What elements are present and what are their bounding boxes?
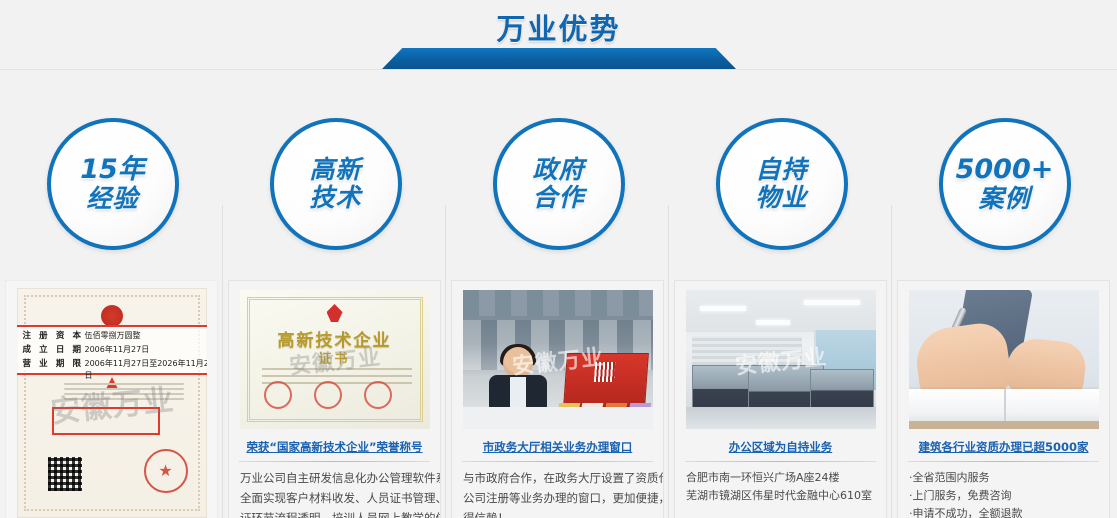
advantage-card-government: 安徽万业 市政务大厅相关业务办理窗口 与市政府合作，在政务大厅设置了资质代办。 … — [451, 280, 664, 518]
certificate-stamps — [264, 381, 392, 409]
card-caption[interactable]: 建筑各行业资质办理已超5000家 — [906, 439, 1101, 455]
license-value: 2006年11月27日 — [85, 344, 150, 357]
card-caption[interactable]: 荣获“国家高新技术企业”荣誉称号 — [237, 439, 432, 455]
body-line: 芜湖市镜湖区伟星时代金融中心610室 — [686, 487, 875, 505]
advantages-section: 万业优势 15年 经验 注 册 资 本 伍佰零捌万圆整 — [0, 0, 1117, 518]
column-divider — [891, 205, 892, 518]
body-line: 合肥市南一环恒兴广场A座24楼 — [686, 469, 875, 487]
card-body: ·全省范围内服务 ·上门服务，免费咨询 ·申请不成功，全额退款 — [909, 469, 1098, 518]
badge-line-2: 物业 — [755, 184, 807, 212]
body-line: 全面实现客户材料收发、人员证书管理、办 — [240, 489, 429, 509]
license-graphic: 注 册 资 本 伍佰零捌万圆整 成 立 日 期 2006年11月27日 营 业 … — [17, 288, 207, 518]
license-value: 伍佰零捌万圆整 — [85, 330, 141, 343]
badge-line-2: 技术 — [309, 184, 361, 212]
license-row: 成 立 日 期 2006年11月27日 — [23, 344, 207, 358]
badge-line-2: 案例 — [978, 185, 1030, 213]
advantage-card-cases: 建筑各行业资质办理已超5000家 ·全省范围内服务 ·上门服务，免费咨询 ·申请… — [897, 280, 1110, 518]
card-caption[interactable]: 办公区域为自持业务 — [683, 439, 878, 455]
license-highlight-box: 注 册 资 本 伍佰零捌万圆整 成 立 日 期 2006年11月27日 营 业 … — [17, 325, 207, 375]
office-area-photo: 安徽万业 — [686, 290, 876, 429]
body-line: ·全省范围内服务 — [909, 469, 1098, 487]
body-line: ·申请不成功，全额退款 — [909, 505, 1098, 518]
caption-underline — [239, 461, 430, 462]
license-key: 营 业 期 限 — [23, 358, 85, 372]
government-service-hall-photo: 安徽万业 — [463, 290, 653, 429]
hands-graphic — [909, 290, 1099, 429]
advantage-card-property: 安徽万业 办公区域为自持业务 合肥市南一环恒兴广场A座24楼 芜湖市镜湖区伟星时… — [674, 280, 887, 518]
section-header: 万业优势 — [0, 0, 1117, 76]
badge-line-2: 经验 — [86, 185, 138, 213]
badge-line-1: 5000+ — [956, 155, 1054, 185]
license-key: 成 立 日 期 — [23, 344, 85, 358]
badge-line-2: 合作 — [532, 184, 584, 212]
advantage-columns: 15年 经验 注 册 资 本 伍佰零捌万圆整 成 立 日 期 — [0, 76, 1117, 518]
body-line: 证环节流程透明、培训人员网上教学的信息 — [240, 509, 429, 518]
column-divider — [445, 205, 446, 518]
office-graphic: 安徽万业 — [686, 290, 876, 429]
badge-line-1: 15年 — [80, 155, 145, 185]
body-line: 得信赖！ — [463, 509, 652, 518]
column-divider — [222, 205, 223, 518]
header-banner-shape — [381, 48, 737, 70]
card-body: 万业公司自主研发信息化办公管理软件系统 全面实现客户材料收发、人员证书管理、办 … — [240, 469, 429, 518]
badge-circle-experience[interactable]: 15年 经验 — [47, 118, 179, 250]
body-line: 公司注册等业务办理的窗口，更加便捷，值 — [463, 489, 652, 509]
caption-underline — [462, 461, 653, 462]
official-seal-icon: ★ — [144, 449, 188, 493]
license-key: 注 册 资 本 — [23, 330, 85, 344]
advantage-column-cases: 5000+ 案例 建筑各行业资质办理已超5000家 — [897, 76, 1112, 518]
body-line: ·上门服务，免费咨询 — [909, 487, 1098, 505]
advantage-column-government: 政府 合作 — [451, 76, 666, 518]
advantage-card-hightech: 高新技术企业 证书 安徽万业 荣获“国家高新技术企业”荣誉称号 万业公司自主研发… — [228, 280, 441, 518]
advantage-column-hightech: 高新 技术 高新技术企业 证书 安徽万业 荣获“国家高新技术企业”荣誉称号 — [228, 76, 443, 518]
hall-graphic: 安徽万业 — [463, 290, 653, 429]
page-title: 万业优势 — [0, 6, 1117, 48]
qr-code-icon — [48, 457, 82, 491]
header-divider — [0, 69, 1117, 70]
advantage-column-experience: 15年 经验 注 册 资 本 伍佰零捌万圆整 成 立 日 期 — [5, 76, 220, 518]
badge-line-1: 自持 — [755, 156, 807, 184]
caption-underline — [908, 461, 1099, 462]
advantage-card-experience: 注 册 资 本 伍佰零捌万圆整 成 立 日 期 2006年11月27日 营 业 … — [5, 280, 218, 518]
certificate-graphic: 高新技术企业 证书 安徽万业 — [240, 290, 430, 429]
badge-line-1: 政府 — [532, 156, 584, 184]
badge-circle-government[interactable]: 政府 合作 — [493, 118, 625, 250]
badge-circle-property[interactable]: 自持 物业 — [716, 118, 848, 250]
body-line: 与市政府合作，在政务大厅设置了资质代办。 — [463, 469, 652, 489]
column-divider — [668, 205, 669, 518]
flame-logo-icon — [327, 304, 343, 322]
business-license-image: 注 册 资 本 伍佰零捌万圆整 成 立 日 期 2006年11月27日 营 业 … — [17, 288, 207, 518]
advantage-column-property: 自持 物业 安徽万业 — [674, 76, 889, 518]
card-body: 合肥市南一环恒兴广场A座24楼 芜湖市镜湖区伟星时代金融中心610室 — [686, 469, 875, 505]
high-tech-enterprise-certificate-image: 高新技术企业 证书 安徽万业 — [240, 290, 430, 429]
badge-line-1: 高新 — [309, 156, 361, 184]
body-line: 万业公司自主研发信息化办公管理软件系统 — [240, 469, 429, 489]
license-row: 注 册 资 本 伍佰零捌万圆整 — [23, 330, 207, 344]
badge-circle-hightech[interactable]: 高新 技术 — [270, 118, 402, 250]
card-body: 与市政府合作，在政务大厅设置了资质代办。 公司注册等业务办理的窗口，更加便捷，值… — [463, 469, 652, 518]
card-caption[interactable]: 市政务大厅相关业务办理窗口 — [460, 439, 655, 455]
signing-hands-photo — [909, 290, 1099, 429]
national-emblem-icon — [101, 305, 123, 327]
badge-circle-cases[interactable]: 5000+ 案例 — [939, 118, 1071, 250]
caption-underline — [685, 461, 876, 462]
